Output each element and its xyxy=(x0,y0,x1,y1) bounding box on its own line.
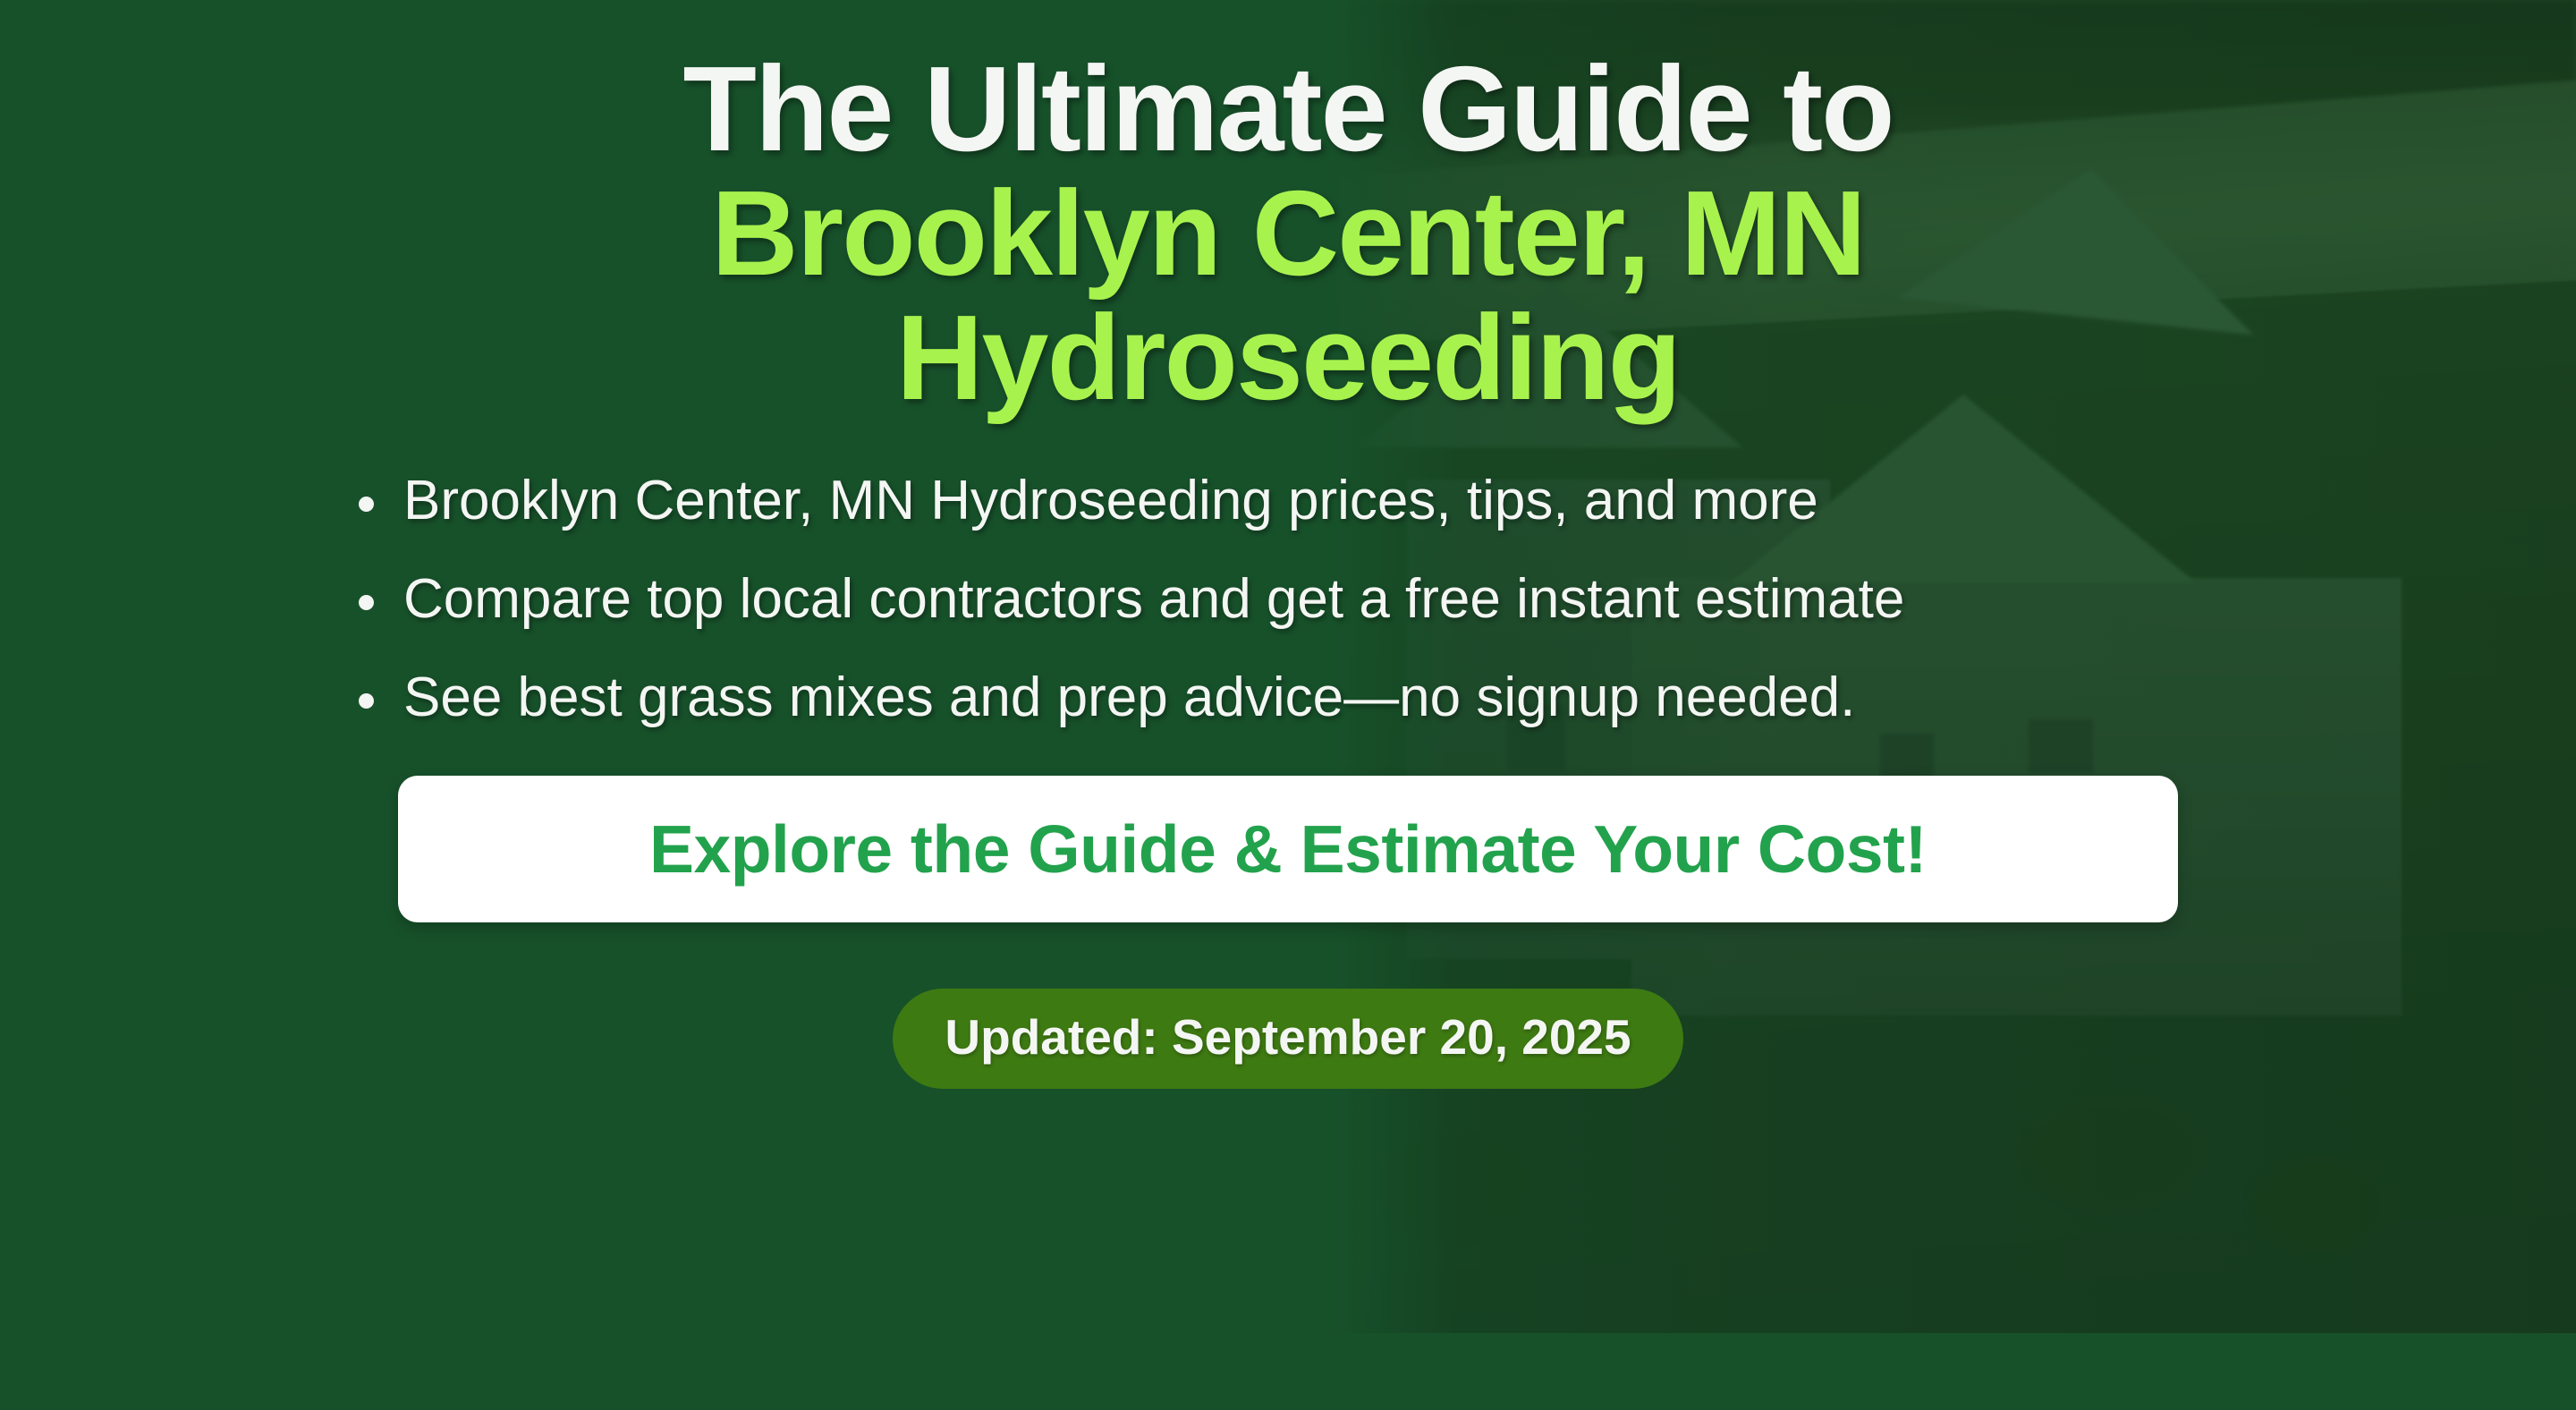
list-item-label: Brooklyn Center, MN Hydroseeding prices,… xyxy=(403,470,1818,531)
list-item: Brooklyn Center, MN Hydroseeding prices,… xyxy=(348,473,2271,529)
bullet-dot-icon xyxy=(359,497,374,512)
bullet-dot-icon xyxy=(359,693,374,709)
bullet-dot-icon xyxy=(359,595,374,610)
hero-banner: The Ultimate Guide to Brooklyn Center, M… xyxy=(0,0,2576,1410)
cta-button-label: Explore the Guide & Estimate Your Cost! xyxy=(649,811,1927,888)
page-title: The Ultimate Guide to Brooklyn Center, M… xyxy=(313,47,2263,420)
explore-guide-cta-button[interactable]: Explore the Guide & Estimate Your Cost! xyxy=(398,776,2178,922)
list-item-label: Compare top local contractors and get a … xyxy=(403,568,1904,630)
headline-line-1: The Ultimate Guide to xyxy=(682,41,1893,176)
headline-line-3: Hydroseeding xyxy=(313,295,2263,420)
updated-date-badge: Updated: September 20, 2025 xyxy=(893,989,1682,1089)
list-item: See best grass mixes and prep advice—no … xyxy=(348,670,2271,726)
list-item-label: See best grass mixes and prep advice—no … xyxy=(403,667,1855,728)
feature-bullet-list: Brooklyn Center, MN Hydroseeding prices,… xyxy=(321,473,2271,769)
headline-line-2: Brooklyn Center, MN xyxy=(313,171,2263,295)
list-item: Compare top local contractors and get a … xyxy=(348,572,2271,627)
banner-content: The Ultimate Guide to Brooklyn Center, M… xyxy=(0,0,2576,1410)
